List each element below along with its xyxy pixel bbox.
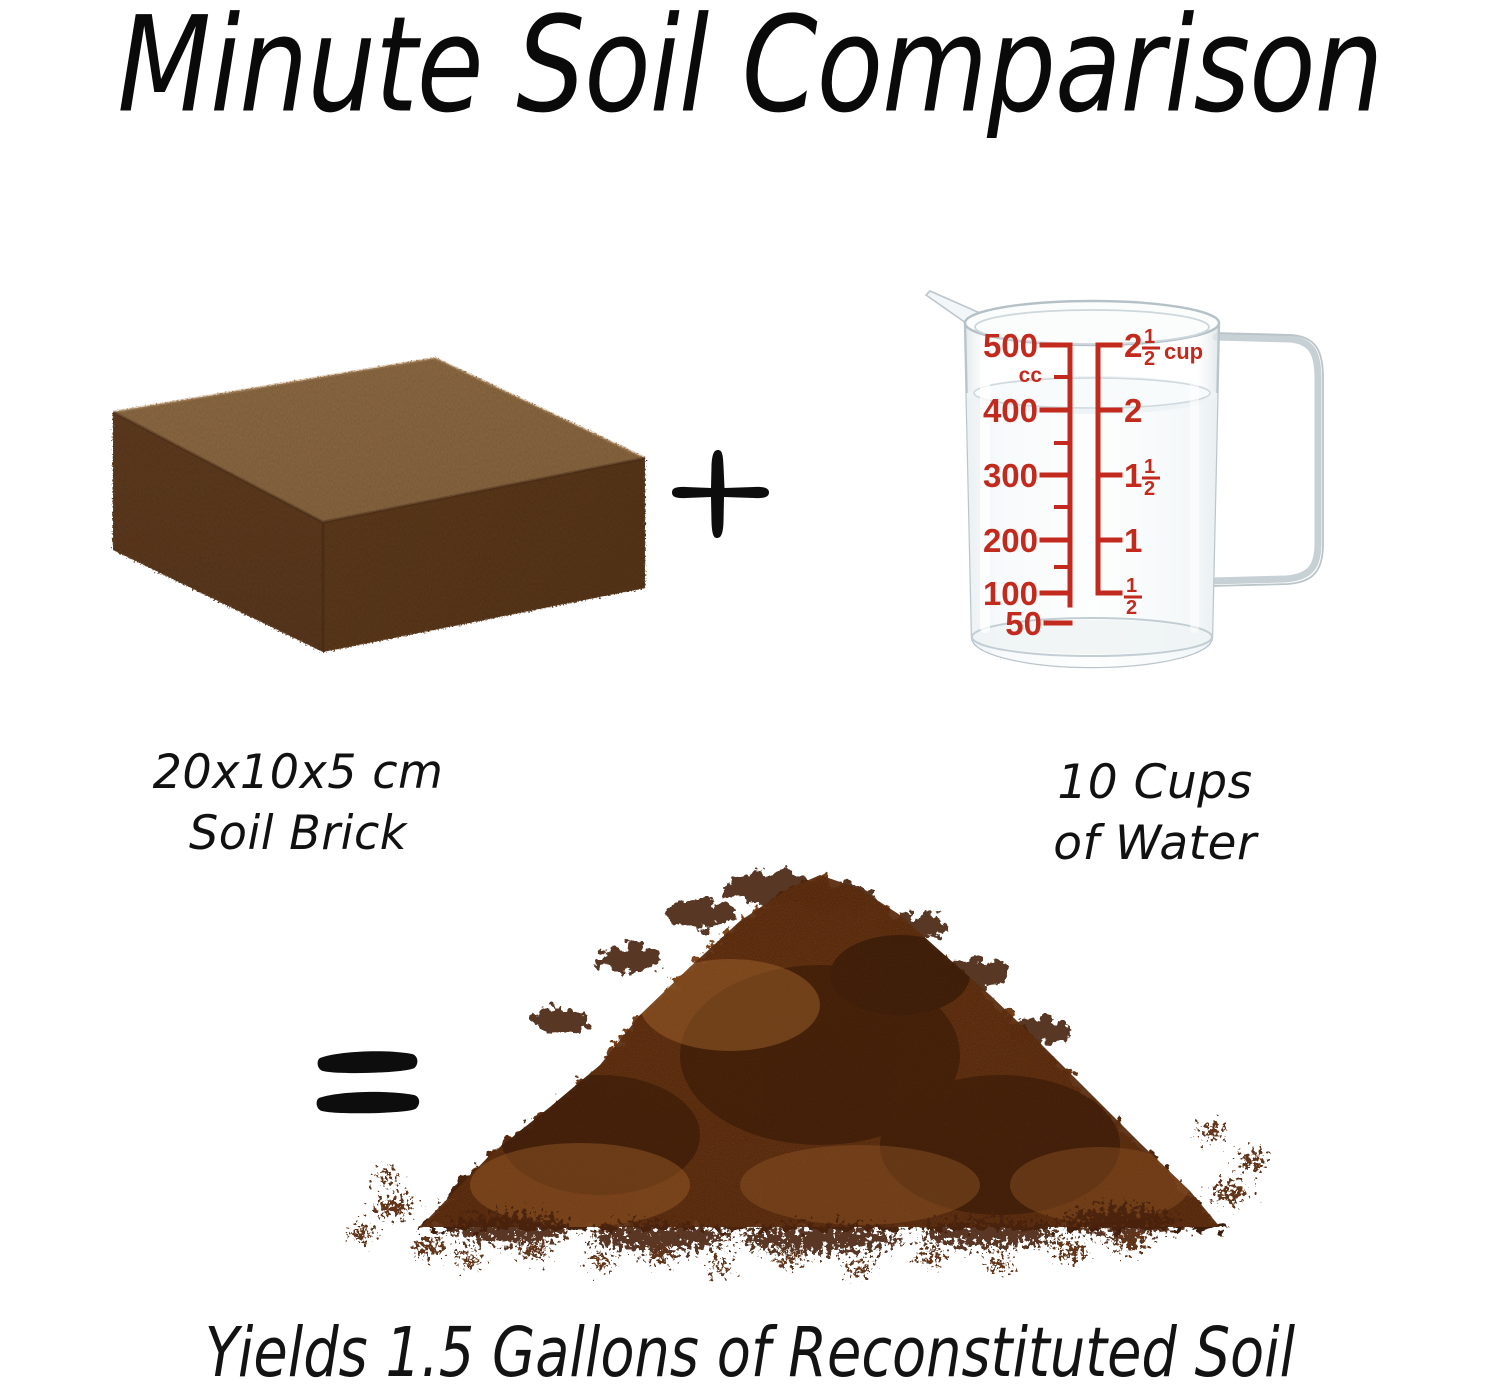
- cup-label-2half-whole: 2: [1124, 327, 1142, 364]
- metric-label-200: 200: [983, 522, 1038, 559]
- infographic-canvas: Minute Soil Comparison: [0, 0, 1500, 1379]
- metric-unit-cc: cc: [1019, 364, 1043, 387]
- cup-handle: [1212, 337, 1318, 581]
- cup-label-2half-num: 1: [1144, 326, 1155, 348]
- plus-icon: [672, 450, 769, 538]
- brick-texture: [113, 358, 645, 652]
- page-title: Minute Soil Comparison: [60, 0, 1440, 137]
- plus-operator: [666, 444, 776, 544]
- cup-label-half-den: 2: [1126, 597, 1137, 619]
- soil-brick-image: [5, 340, 665, 690]
- cup-label-2: 2: [1124, 392, 1142, 429]
- metric-label-500: 500: [983, 327, 1038, 364]
- soil-pile-image: [300, 855, 1300, 1315]
- water-label-line1: 10 Cups: [955, 752, 1355, 813]
- result-caption: Yields 1.5 Gallons of Reconstituted Soil: [75, 1312, 1425, 1392]
- soil-brick-label: 20x10x5 cm Soil Brick: [24, 742, 573, 864]
- cup-handle-inner-highlight: [1214, 343, 1312, 575]
- cup-label-1half-whole: 1: [1124, 457, 1142, 494]
- cup-label-1half-num: 1: [1144, 456, 1155, 478]
- measuring-cup-image: 500 cc 400 300 200 100 50 2 1 2 cup 2 1: [920, 275, 1370, 680]
- metric-label-400: 400: [983, 392, 1038, 429]
- metric-label-300: 300: [983, 457, 1038, 494]
- cup-label-1: 1: [1124, 522, 1142, 559]
- cup-label-2half-unit: cup: [1164, 339, 1203, 364]
- cup-label-half-num: 1: [1126, 575, 1137, 597]
- cup-label-1half-den: 2: [1144, 478, 1155, 500]
- soil-brick-label-line1: 20x10x5 cm: [24, 742, 573, 803]
- cup-handle-outline: [1212, 333, 1323, 586]
- metric-label-50: 50: [1005, 605, 1042, 642]
- cup-label-2half-den: 2: [1144, 348, 1155, 370]
